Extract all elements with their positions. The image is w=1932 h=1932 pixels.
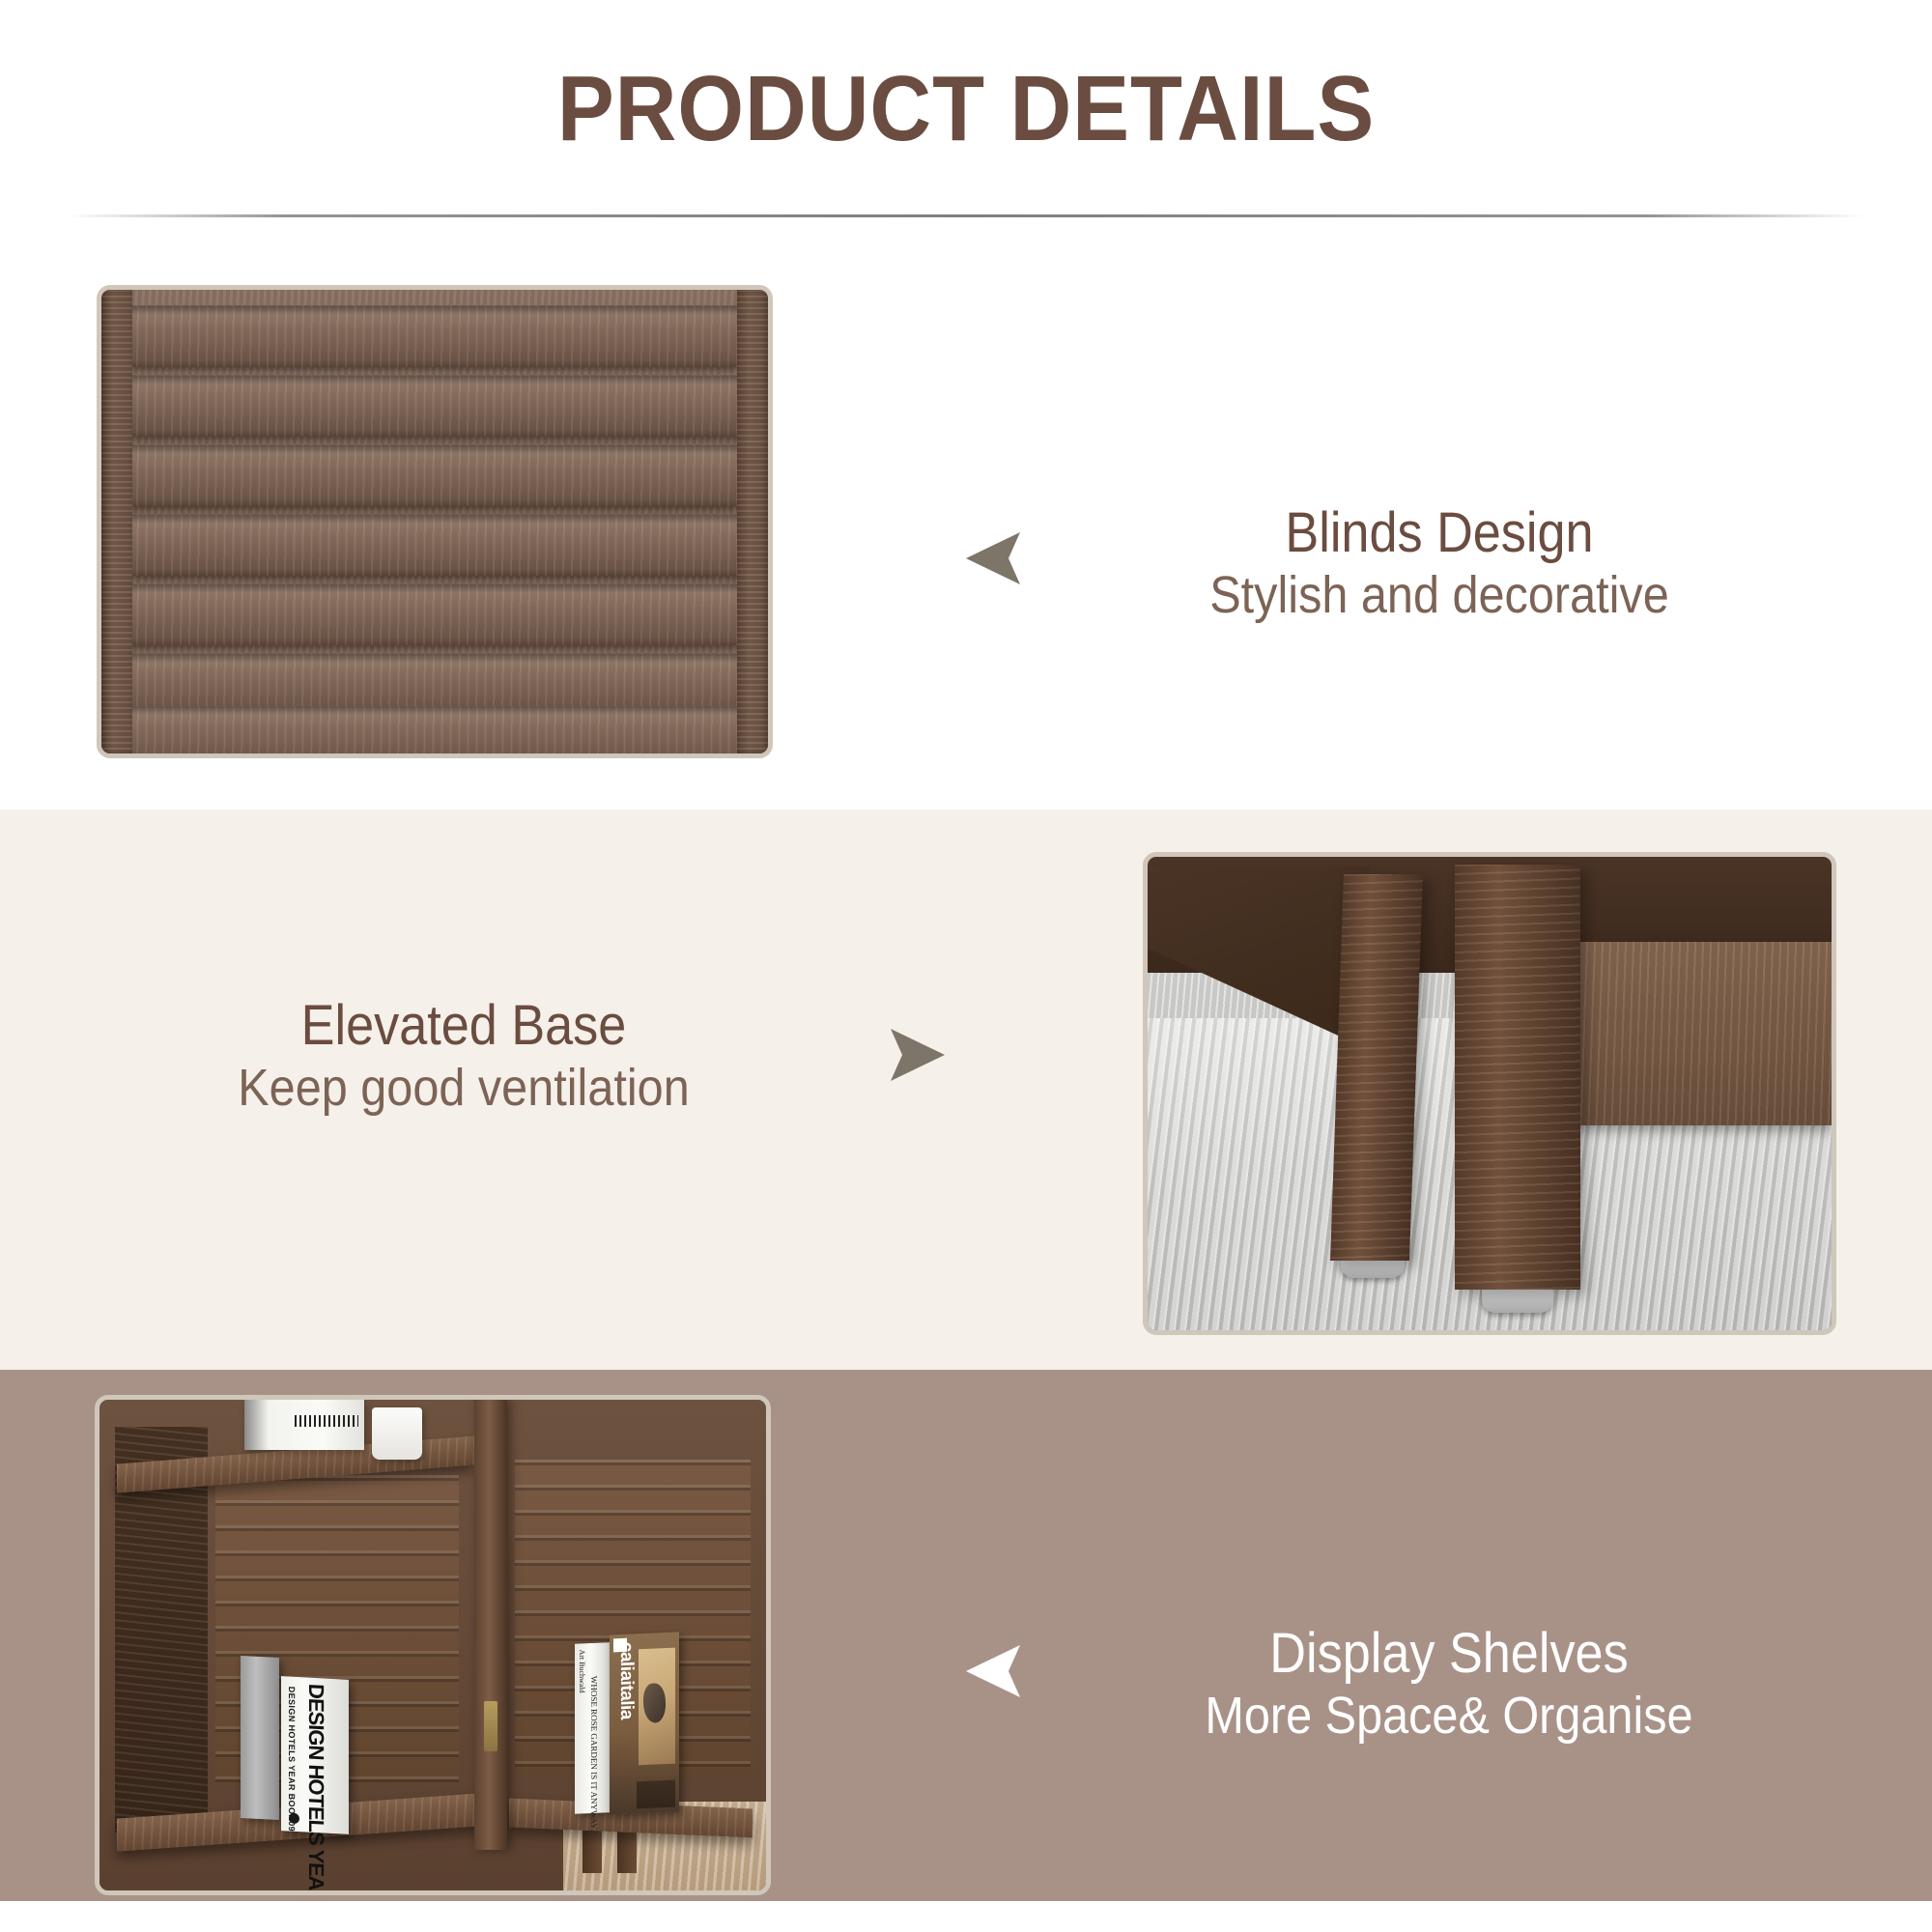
door-hinge — [484, 1701, 497, 1751]
product-details-page: PRODUCT DETAILS Blinds Design Stylish an… — [0, 0, 1932, 1932]
barcode-graphic — [295, 1415, 358, 1427]
arrow-right-icon — [877, 1026, 947, 1084]
panel-frame-left — [101, 290, 132, 753]
callout-base: Elevated Base Keep good ventilation — [58, 995, 869, 1120]
photo-display-shelves: DESIGN HOTELS YEAR BOOK09 DESIGN HOTELS … — [95, 1395, 771, 1895]
page-header: PRODUCT DETAILS — [0, 0, 1932, 232]
callout-heading: Blinds Design — [1065, 502, 1813, 565]
slat — [128, 514, 741, 576]
photo-shelf-inner: DESIGN HOTELS YEAR BOOK09 DESIGN HOTELS … — [99, 1400, 766, 1890]
book-cover-photo — [639, 1648, 675, 1766]
ceramic-mug — [372, 1407, 422, 1460]
book-buchwald: Art Buchwald WHOSE ROSE GARDEN IS IT ANY… — [575, 1642, 610, 1814]
cabinet-divider-post — [474, 1400, 507, 1850]
slat — [128, 583, 741, 645]
book-cover-footer — [637, 1780, 675, 1809]
top-shelf-books — [244, 1400, 364, 1450]
book-caliaitalia: caliaitalia — [610, 1632, 679, 1814]
slat — [128, 305, 741, 367]
cabinet-leg-front — [1455, 865, 1580, 1290]
slat — [128, 375, 741, 437]
callout-shelves: Display Shelves More Space& Organise — [1024, 1623, 1874, 1747]
slat — [128, 444, 741, 506]
photo-base-inner — [1148, 857, 1832, 1330]
callout-blinds: Blinds Design Stylish and decorative — [1024, 502, 1855, 627]
cabinet-leg-rear — [1330, 874, 1423, 1261]
callout-subheading: Keep good ventilation — [99, 1058, 829, 1120]
slat — [128, 705, 741, 753]
panel-frame-right — [737, 290, 768, 753]
book-title-text: caliaitalia — [615, 1641, 637, 1719]
callout-subheading: More Space& Organise — [1066, 1686, 1832, 1747]
book-title-text: WHOSE ROSE GARDEN IS IT ANYWAY? — [588, 1676, 599, 1833]
book-design-hotels: DESIGN HOTELS YEAR BOOK09 DESIGN HOTELS … — [281, 1676, 349, 1834]
page-title: PRODUCT DETAILS — [77, 56, 1855, 162]
callout-heading: Elevated Base — [99, 995, 829, 1058]
callout-heading: Display Shelves — [1066, 1623, 1832, 1686]
book-dot-icon — [289, 1813, 299, 1825]
title-divider — [68, 214, 1864, 217]
photo-louvre-panel — [97, 285, 773, 758]
book-face-text: DESIGN HOTELS YEAR BOOK 09 — [306, 1684, 326, 1890]
book-spine-text: DESIGN HOTELS YEAR BOOK09 — [286, 1686, 297, 1832]
photo-elevated-base — [1143, 852, 1836, 1335]
callout-subheading: Stylish and decorative — [1065, 565, 1813, 627]
book-grey — [241, 1656, 279, 1820]
book-author-text: Art Buchwald — [578, 1649, 586, 1693]
photo-louvre-inner — [101, 290, 768, 753]
section-band-footer — [0, 1901, 1932, 1932]
